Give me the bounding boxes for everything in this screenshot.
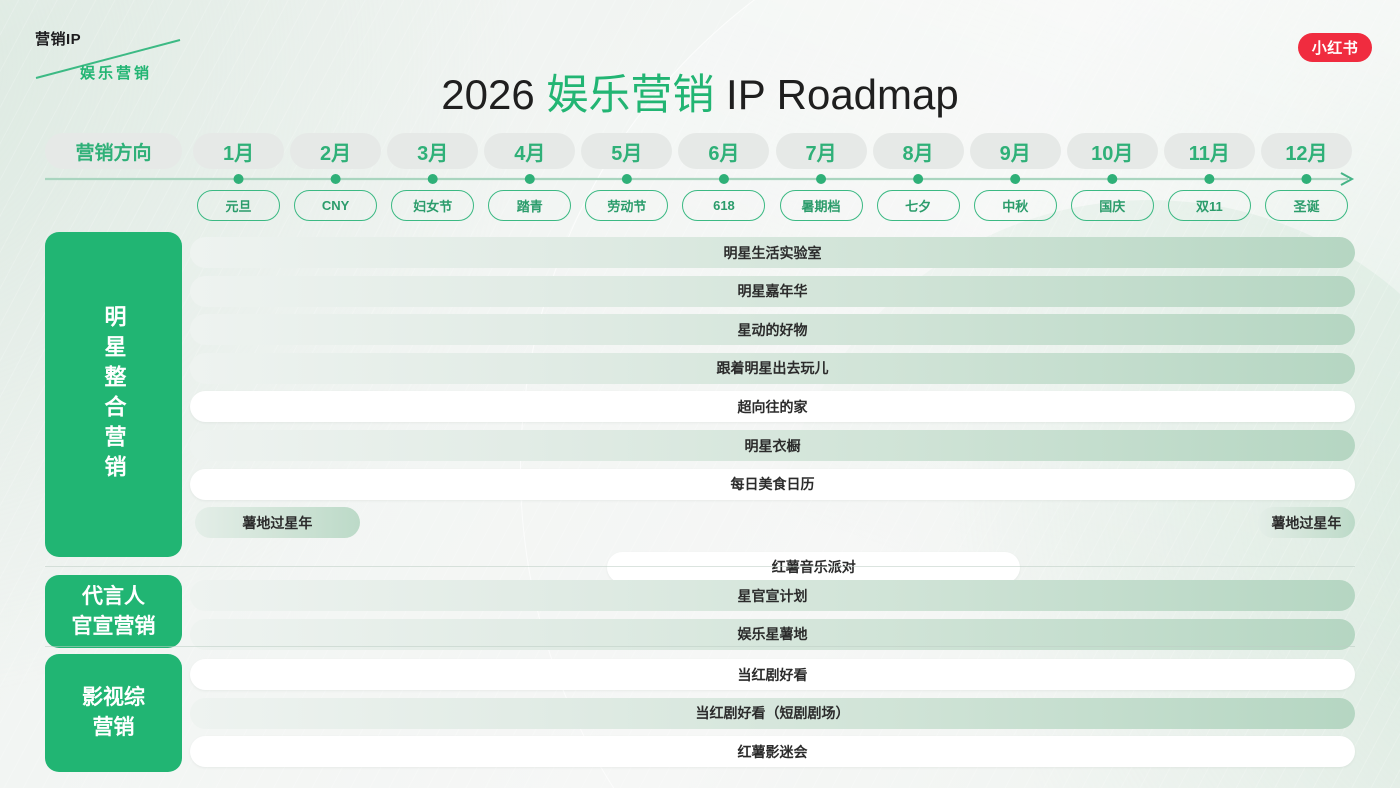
month-axis-row: 营销方向 1月2月3月4月5月6月7月8月9月10月11月12月 — [0, 133, 1400, 171]
roadmap-bar-label: 星官宣计划 — [738, 586, 808, 606]
festival-pill-label: 双11 — [1196, 196, 1223, 215]
roadmap-bar-label: 薯地过星年 — [242, 513, 312, 533]
roadmap-bar[interactable]: 明星生活实验室 — [190, 237, 1355, 268]
xiaohongshu-logo-text: 小红书 — [1312, 37, 1359, 58]
month-pill-label: 11月 — [1189, 137, 1230, 166]
roadmap-bar[interactable]: 当红剧好看 — [190, 659, 1355, 690]
roadmap-group-1: 明星整合营销明星生活实验室明星嘉年华星动的好物跟着明星出去玩儿超向往的家明星衣橱… — [0, 232, 1400, 557]
timeline-dot-3 — [428, 174, 438, 184]
timeline-dot-9 — [1010, 174, 1020, 184]
month-pill-7[interactable]: 7月 — [776, 133, 867, 169]
festival-pill-7[interactable]: 暑期档 — [780, 190, 863, 221]
roadmap-group-2: 代言人官宣营销星官宣计划娱乐星薯地 — [0, 575, 1400, 648]
festival-pill-label: 踏青 — [517, 196, 543, 215]
festival-pill-label: CNY — [322, 198, 349, 213]
roadmap-bar[interactable]: 明星衣橱 — [190, 430, 1355, 461]
roadmap-bar[interactable]: 每日美食日历 — [190, 469, 1355, 500]
roadmap-bar[interactable]: 明星嘉年华 — [190, 276, 1355, 307]
festival-row: 元旦CNY妇女节踏青劳动节618暑期档七夕中秋国庆双11圣诞 — [0, 190, 1400, 222]
roadmap-bar-label: 跟着明星出去玩儿 — [717, 358, 829, 378]
timeline-dot-10 — [1107, 174, 1117, 184]
group-divider-1 — [45, 566, 1355, 567]
month-pill-10[interactable]: 10月 — [1067, 133, 1158, 169]
title-highlight: 娱乐营销 — [546, 71, 714, 118]
roadmap-bar[interactable]: 娱乐星薯地 — [190, 619, 1355, 650]
timeline-dot-12 — [1301, 174, 1311, 184]
roadmap-bar[interactable]: 薯地过星年 — [1258, 507, 1355, 538]
roadmap-bar-label: 超向往的家 — [738, 397, 808, 417]
month-pill-8[interactable]: 8月 — [873, 133, 964, 169]
festival-pill-11[interactable]: 双11 — [1168, 190, 1251, 221]
month-pill-2[interactable]: 2月 — [290, 133, 381, 169]
roadmap-poster: 营销IP 娱乐营销 小红书 2026 娱乐营销 IP Roadmap 营销方向 … — [0, 0, 1400, 788]
roadmap-bar[interactable]: 薯地过星年 — [195, 507, 360, 538]
category-box-3[interactable]: 影视综营销 — [45, 654, 182, 772]
month-pill-9[interactable]: 9月 — [970, 133, 1061, 169]
month-pill-12[interactable]: 12月 — [1261, 133, 1352, 169]
month-pill-label: 1月 — [223, 137, 254, 166]
category-label: 影视综营销 — [82, 683, 145, 743]
festival-pill-label: 618 — [713, 198, 735, 213]
timeline-dot-5 — [622, 174, 632, 184]
category-label: 明星整合营销 — [103, 305, 125, 485]
timeline-axis — [0, 168, 1400, 188]
month-pill-3[interactable]: 3月 — [387, 133, 478, 169]
month-pill-11[interactable]: 11月 — [1164, 133, 1255, 169]
roadmap-bar[interactable]: 超向往的家 — [190, 391, 1355, 422]
month-pill-1[interactable]: 1月 — [193, 133, 284, 169]
festival-pill-12[interactable]: 圣诞 — [1265, 190, 1348, 221]
festival-pill-label: 圣诞 — [1293, 196, 1319, 215]
timeline-dot-8 — [913, 174, 923, 184]
month-pill-label: 4月 — [514, 137, 545, 166]
month-pill-label: 2月 — [320, 137, 351, 166]
group-divider-2 — [45, 646, 1355, 647]
roadmap-bar[interactable]: 星官宣计划 — [190, 580, 1355, 611]
timeline-dot-6 — [719, 174, 729, 184]
festival-pill-8[interactable]: 七夕 — [877, 190, 960, 221]
roadmap-bar[interactable]: 红薯影迷会 — [190, 736, 1355, 767]
timeline-dot-7 — [816, 174, 826, 184]
roadmap-bar[interactable]: 星动的好物 — [190, 314, 1355, 345]
roadmap-bar[interactable]: 当红剧好看（短剧剧场） — [190, 698, 1355, 729]
festival-pill-2[interactable]: CNY — [294, 190, 377, 221]
roadmap-bar-label: 每日美食日历 — [731, 474, 815, 494]
category-label: 代言人官宣营销 — [72, 582, 156, 642]
roadmap-bar-label: 娱乐星薯地 — [738, 624, 808, 644]
roadmap-bar-label: 星动的好物 — [738, 320, 808, 340]
roadmap-bar-label: 红薯影迷会 — [738, 742, 808, 762]
roadmap-bar-label: 当红剧好看 — [738, 665, 808, 685]
festival-pill-6[interactable]: 618 — [682, 190, 765, 221]
festival-pill-label: 妇女节 — [413, 196, 452, 215]
timeline-dot-2 — [331, 174, 341, 184]
month-pill-label: 6月 — [708, 137, 739, 166]
direction-label-text: 营销方向 — [75, 138, 151, 165]
title-suffix: IP Roadmap — [714, 71, 958, 118]
page-title: 2026 娱乐营销 IP Roadmap — [0, 66, 1400, 124]
month-pill-label: 5月 — [611, 137, 642, 166]
month-pill-label: 10月 — [1091, 137, 1133, 166]
roadmap-group-3: 影视综营销当红剧好看当红剧好看（短剧剧场）红薯影迷会 — [0, 654, 1400, 772]
direction-label-pill: 营销方向 — [45, 133, 182, 169]
festival-pill-label: 元旦 — [226, 196, 252, 215]
timeline-dot-1 — [234, 174, 244, 184]
title-prefix: 2026 — [441, 71, 546, 118]
festival-pill-label: 暑期档 — [802, 196, 841, 215]
month-pill-6[interactable]: 6月 — [678, 133, 769, 169]
festival-pill-10[interactable]: 国庆 — [1071, 190, 1154, 221]
roadmap-bar-label: 明星生活实验室 — [724, 243, 822, 263]
month-pill-label: 3月 — [417, 137, 448, 166]
month-pill-label: 9月 — [1000, 137, 1031, 166]
roadmap-bar-label: 明星衣橱 — [745, 436, 801, 456]
roadmap-bar-label: 明星嘉年华 — [738, 281, 808, 301]
month-pill-5[interactable]: 5月 — [581, 133, 672, 169]
festival-pill-5[interactable]: 劳动节 — [585, 190, 668, 221]
month-pill-label: 7月 — [805, 137, 836, 166]
roadmap-bar[interactable]: 跟着明星出去玩儿 — [190, 353, 1355, 384]
festival-pill-label: 劳动节 — [607, 196, 646, 215]
timeline-dot-4 — [525, 174, 535, 184]
festival-pill-label: 中秋 — [1002, 196, 1028, 215]
festival-pill-label: 国庆 — [1099, 196, 1125, 215]
month-pill-label: 8月 — [903, 137, 934, 166]
festival-pill-1[interactable]: 元旦 — [197, 190, 280, 221]
month-pill-4[interactable]: 4月 — [484, 133, 575, 169]
festival-pill-9[interactable]: 中秋 — [974, 190, 1057, 221]
xiaohongshu-logo: 小红书 — [1298, 33, 1372, 62]
festival-pill-4[interactable]: 踏青 — [488, 190, 571, 221]
roadmap-bar-label: 当红剧好看（短剧剧场） — [696, 703, 850, 723]
timeline-dot-11 — [1204, 174, 1214, 184]
category-box-2[interactable]: 代言人官宣营销 — [45, 575, 182, 648]
month-pill-label: 12月 — [1285, 137, 1327, 166]
festival-pill-3[interactable]: 妇女节 — [391, 190, 474, 221]
festival-pill-label: 七夕 — [905, 196, 931, 215]
category-box-1[interactable]: 明星整合营销 — [45, 232, 182, 557]
roadmap-bar-label: 薯地过星年 — [1271, 513, 1341, 533]
